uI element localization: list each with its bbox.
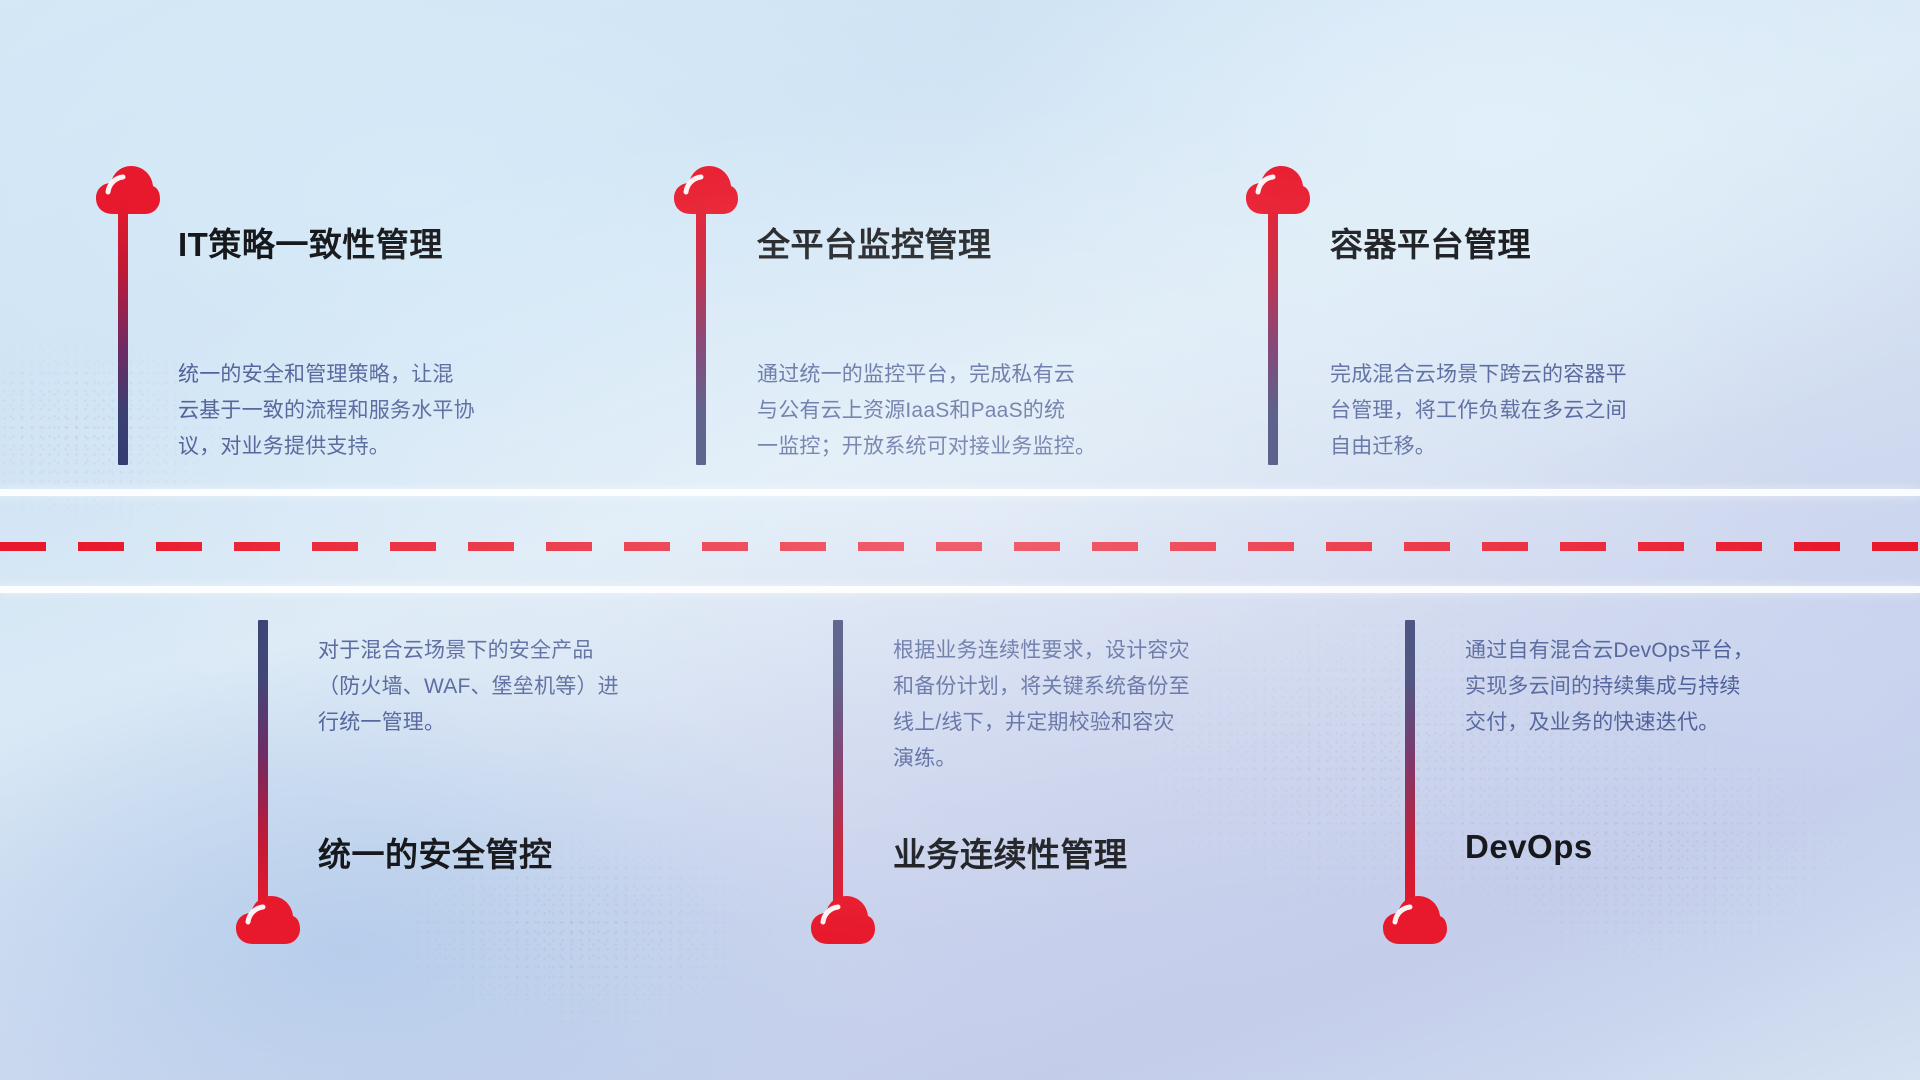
white-rule-bottom: [0, 586, 1920, 593]
connector-line: [1405, 620, 1415, 910]
cloud-icon: [235, 895, 301, 945]
feature-title: 容器平台管理: [1330, 218, 1531, 266]
feature-title: 全平台监控管理: [757, 218, 992, 266]
feature-description: 完成混合云场景下跨云的容器平 台管理，将工作负载在多云之间 自由迁移。: [1330, 357, 1760, 465]
feature-title: DevOps: [1465, 828, 1593, 866]
cloud-icon: [810, 895, 876, 945]
feature-description: 根据业务连续性要求，设计容灾 和备份计划，将关键系统备份至 线上/线下，并定期校…: [893, 633, 1323, 777]
infographic-canvas: IT策略一致性管理 统一的安全和管理策略，让混 云基于一致的流程和服务水平协 议…: [0, 0, 1920, 1080]
red-dashed-rule: [0, 542, 1920, 551]
connector-line: [833, 620, 843, 910]
feature-description: 对于混合云场景下的安全产品 （防火墙、WAF、堡垒机等）进 行统一管理。: [318, 633, 738, 741]
feature-description: 统一的安全和管理策略，让混 云基于一致的流程和服务水平协 议，对业务提供支持。: [178, 357, 608, 465]
cloud-icon: [1382, 895, 1448, 945]
connector-line: [118, 200, 128, 465]
feature-title: 统一的安全管控: [318, 828, 553, 876]
cloud-icon: [1245, 165, 1311, 215]
feature-description: 通过统一的监控平台，完成私有云 与公有云上资源IaaS和PaaS的统 一监控；开…: [757, 357, 1197, 465]
cloud-icon: [673, 165, 739, 215]
connector-line: [696, 200, 706, 465]
connector-line: [258, 620, 268, 910]
feature-description: 通过自有混合云DevOps平台， 实现多云间的持续集成与持续 交付，及业务的快速…: [1465, 633, 1885, 741]
connector-line: [1268, 200, 1278, 465]
feature-title: 业务连续性管理: [893, 828, 1128, 876]
feature-title: IT策略一致性管理: [178, 218, 443, 266]
white-rule-top: [0, 489, 1920, 496]
cloud-icon: [95, 165, 161, 215]
